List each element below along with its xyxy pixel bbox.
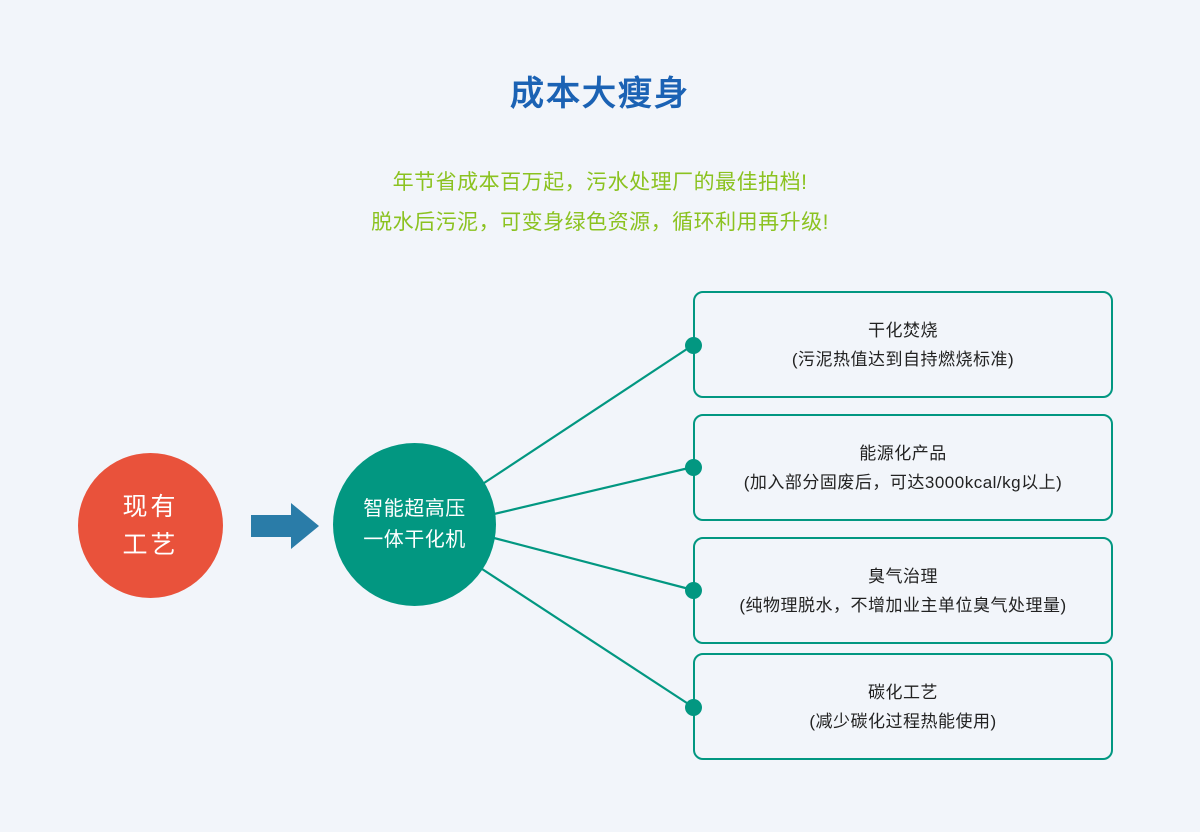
outcome-card-energy-product[interactable]: 能源化产品 (加入部分固废后，可达3000kcal/kg以上) (693, 414, 1113, 521)
connector-dot-1 (685, 337, 702, 354)
outcome-card-carbonization[interactable]: 碳化工艺 (减少碳化过程热能使用) (693, 653, 1113, 760)
subtitle-block: 年节省成本百万起，污水处理厂的最佳拍档! 脱水后污泥，可变身绿色资源，循环利用再… (0, 163, 1200, 243)
node-smart-dryer[interactable]: 智能超高压 一体干化机 (333, 443, 496, 606)
outcome-card-detail: (加入部分固废后，可达3000kcal/kg以上) (744, 468, 1063, 497)
connector-dot-4 (685, 699, 702, 716)
outcome-card-detail: (纯物理脱水，不增加业主单位臭气处理量) (739, 591, 1066, 620)
connector-dot-3 (685, 582, 702, 599)
outcome-card-detail: (减少碳化过程热能使用) (809, 707, 996, 736)
connector-dot-2 (685, 459, 702, 476)
subtitle-line-1: 年节省成本百万起，污水处理厂的最佳拍档! (0, 163, 1200, 203)
outcome-card-odor-control[interactable]: 臭气治理 (纯物理脱水，不增加业主单位臭气处理量) (693, 537, 1113, 644)
node-current-process[interactable]: 现有 工艺 (78, 453, 223, 598)
node-current-process-label: 现有 工艺 (122, 488, 178, 564)
node-smart-dryer-label: 智能超高压 一体干化机 (363, 494, 466, 556)
outcome-card-detail: (污泥热值达到自持燃烧标准) (792, 345, 1014, 374)
outcome-card-title: 能源化产品 (859, 439, 947, 468)
outcome-card-drying-incineration[interactable]: 干化焚烧 (污泥热值达到自持燃烧标准) (693, 291, 1113, 398)
outcome-card-title: 碳化工艺 (868, 678, 938, 707)
outcome-card-title: 干化焚烧 (868, 316, 938, 345)
subtitle-line-2: 脱水后污泥，可变身绿色资源，循环利用再升级! (0, 203, 1200, 243)
outcome-card-title: 臭气治理 (868, 562, 938, 591)
page-title: 成本大瘦身 (0, 74, 1200, 115)
infographic-canvas: 成本大瘦身 年节省成本百万起，污水处理厂的最佳拍档! 脱水后污泥，可变身绿色资源… (0, 0, 1200, 832)
right-arrow-icon (251, 503, 319, 549)
